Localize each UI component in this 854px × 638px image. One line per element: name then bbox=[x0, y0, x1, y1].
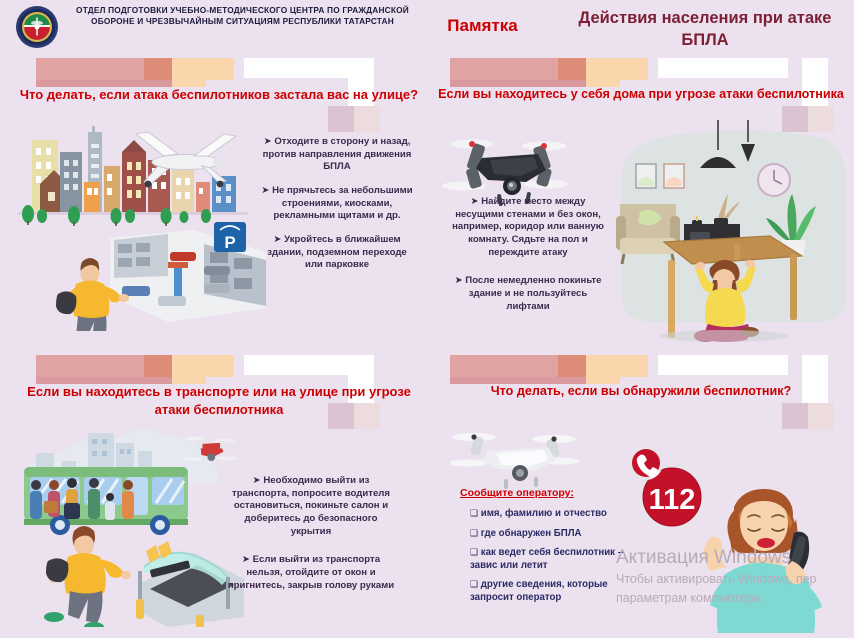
checkbox-icon: ❑ bbox=[470, 508, 478, 518]
white-frame-top bbox=[658, 58, 788, 78]
bullet-item: ➤ Если выйти из транспорта нельзя, отойд… bbox=[226, 554, 396, 592]
decor-bars bbox=[36, 355, 234, 377]
woman-calling-112 bbox=[704, 489, 822, 633]
panel-bullets: ➤ Найдите место между несущими стенами и… bbox=[452, 196, 604, 324]
checklist-item: ❑ как ведет себя беспилотник – завис или… bbox=[470, 547, 652, 572]
accent-square bbox=[328, 106, 380, 132]
white-frame-top bbox=[658, 355, 788, 375]
illustration-street: P bbox=[18, 126, 266, 331]
checklist-item: ❑ другие сведения, которые запросит опер… bbox=[470, 579, 652, 604]
emergency-number: 112 bbox=[649, 484, 696, 516]
infographic-root: ОТДЕЛ ПОДГОТОВКИ УЧЕБНО-МЕТОДИЧЕСКОГО ЦЕ… bbox=[0, 0, 854, 638]
bullet-item: ➤ Укройтесь в ближайшем здании, подземно… bbox=[261, 234, 413, 272]
bullet-item: ➤ После немедленно покиньте здание и не … bbox=[452, 275, 604, 313]
pamyatka-label: Памятка bbox=[425, 16, 540, 36]
panel-title: Что делать, если вы обнаружили беспилотн… bbox=[432, 383, 850, 400]
illustration-woman-on-phone bbox=[704, 463, 850, 633]
running-man-illustration bbox=[44, 526, 131, 627]
accent-square bbox=[782, 403, 834, 429]
parking-sign-icon: P bbox=[214, 222, 246, 252]
org-title: ОТДЕЛ ПОДГОТОВКИ УЧЕБНО-МЕТОДИЧЕСКОГО ЦЕ… bbox=[70, 5, 415, 28]
illustration-home-shelter bbox=[614, 120, 850, 342]
panel-in-transport: Если вы находитесь в транспорте или на у… bbox=[18, 355, 420, 633]
panel-street-attack: Что делать, если атака беспилотников зас… bbox=[18, 58, 420, 343]
bullet-item: ➤ Отходите в сторону и назад, против нап… bbox=[261, 136, 413, 174]
checklist-title: Сообщите оператору: bbox=[460, 487, 574, 499]
decor-bars bbox=[450, 58, 648, 80]
bullet-item: ➤ Необходимо выйти из транспорта, попрос… bbox=[226, 475, 396, 538]
checkbox-icon: ❑ bbox=[470, 528, 478, 538]
svg-text:P: P bbox=[224, 233, 235, 252]
page-title: Действия населения при атаке БПЛА bbox=[560, 8, 850, 52]
bullet-item: ➤ Не прячьтесь за небольшими строениями,… bbox=[261, 185, 413, 223]
civil-defense-emblem-icon bbox=[9, 4, 65, 50]
emergency-112-badge: 112 bbox=[624, 443, 710, 535]
panel-at-home: Если вы находитесь у себя дома при угроз… bbox=[432, 58, 850, 343]
white-quadcopter-icon bbox=[450, 433, 580, 489]
decor-bars bbox=[36, 58, 234, 80]
decor-bars bbox=[450, 355, 648, 377]
bullet-item: ➤ Найдите место между несущими стенами и… bbox=[452, 196, 604, 259]
panel-bullets: ➤ Необходимо выйти из транспорта, попрос… bbox=[226, 475, 396, 603]
illustration-white-drone bbox=[450, 423, 590, 493]
header: ОТДЕЛ ПОДГОТОВКИ УЧЕБНО-МЕТОДИЧЕСКОГО ЦЕ… bbox=[0, 0, 854, 56]
panel-title: Если вы находитесь в транспорте или на у… bbox=[18, 383, 420, 418]
panel-title: Если вы находитесь у себя дома при угроз… bbox=[432, 86, 850, 103]
illustration-bus-scene bbox=[18, 427, 244, 627]
checkbox-icon: ❑ bbox=[470, 547, 478, 557]
panel-title: Что делать, если атака беспилотников зас… bbox=[18, 86, 420, 104]
panel-bullets: ➤ Отходите в сторону и назад, против нап… bbox=[261, 136, 413, 283]
checkbox-icon: ❑ bbox=[470, 579, 478, 589]
